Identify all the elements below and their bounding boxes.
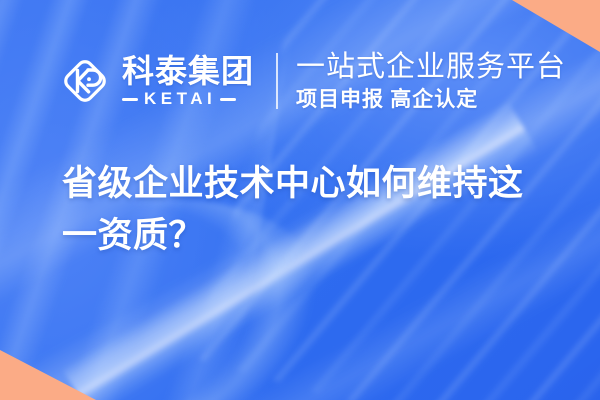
promo-banner: 科泰集团 KETAI 一站式企业服务平台 项目申报 高企认定 省级企业技术中心如… — [0, 0, 600, 400]
brand-name-en-row: KETAI — [122, 90, 254, 108]
brand-name-cn: 科泰集团 — [122, 54, 254, 88]
wordmark-dash-right — [220, 98, 236, 101]
tagline-block: 一站式企业服务平台 项目申报 高企认定 — [296, 51, 566, 112]
brand-wordmark: 科泰集团 KETAI — [122, 54, 254, 108]
ketai-diamond-kt-monogram-icon — [57, 53, 113, 109]
brand-name-en: KETAI — [144, 90, 216, 108]
tagline-primary: 一站式企业服务平台 — [296, 51, 566, 84]
brand-logo[interactable]: 科泰集团 KETAI — [57, 53, 254, 109]
banner-header: 科泰集团 KETAI 一站式企业服务平台 项目申报 高企认定 — [57, 48, 566, 114]
tagline-secondary: 项目申报 高企认定 — [296, 87, 566, 112]
banner-headline: 省级企业技术中心如何维持这一资质？ — [62, 158, 558, 262]
wordmark-dash-left — [122, 98, 138, 101]
header-divider — [276, 53, 278, 109]
